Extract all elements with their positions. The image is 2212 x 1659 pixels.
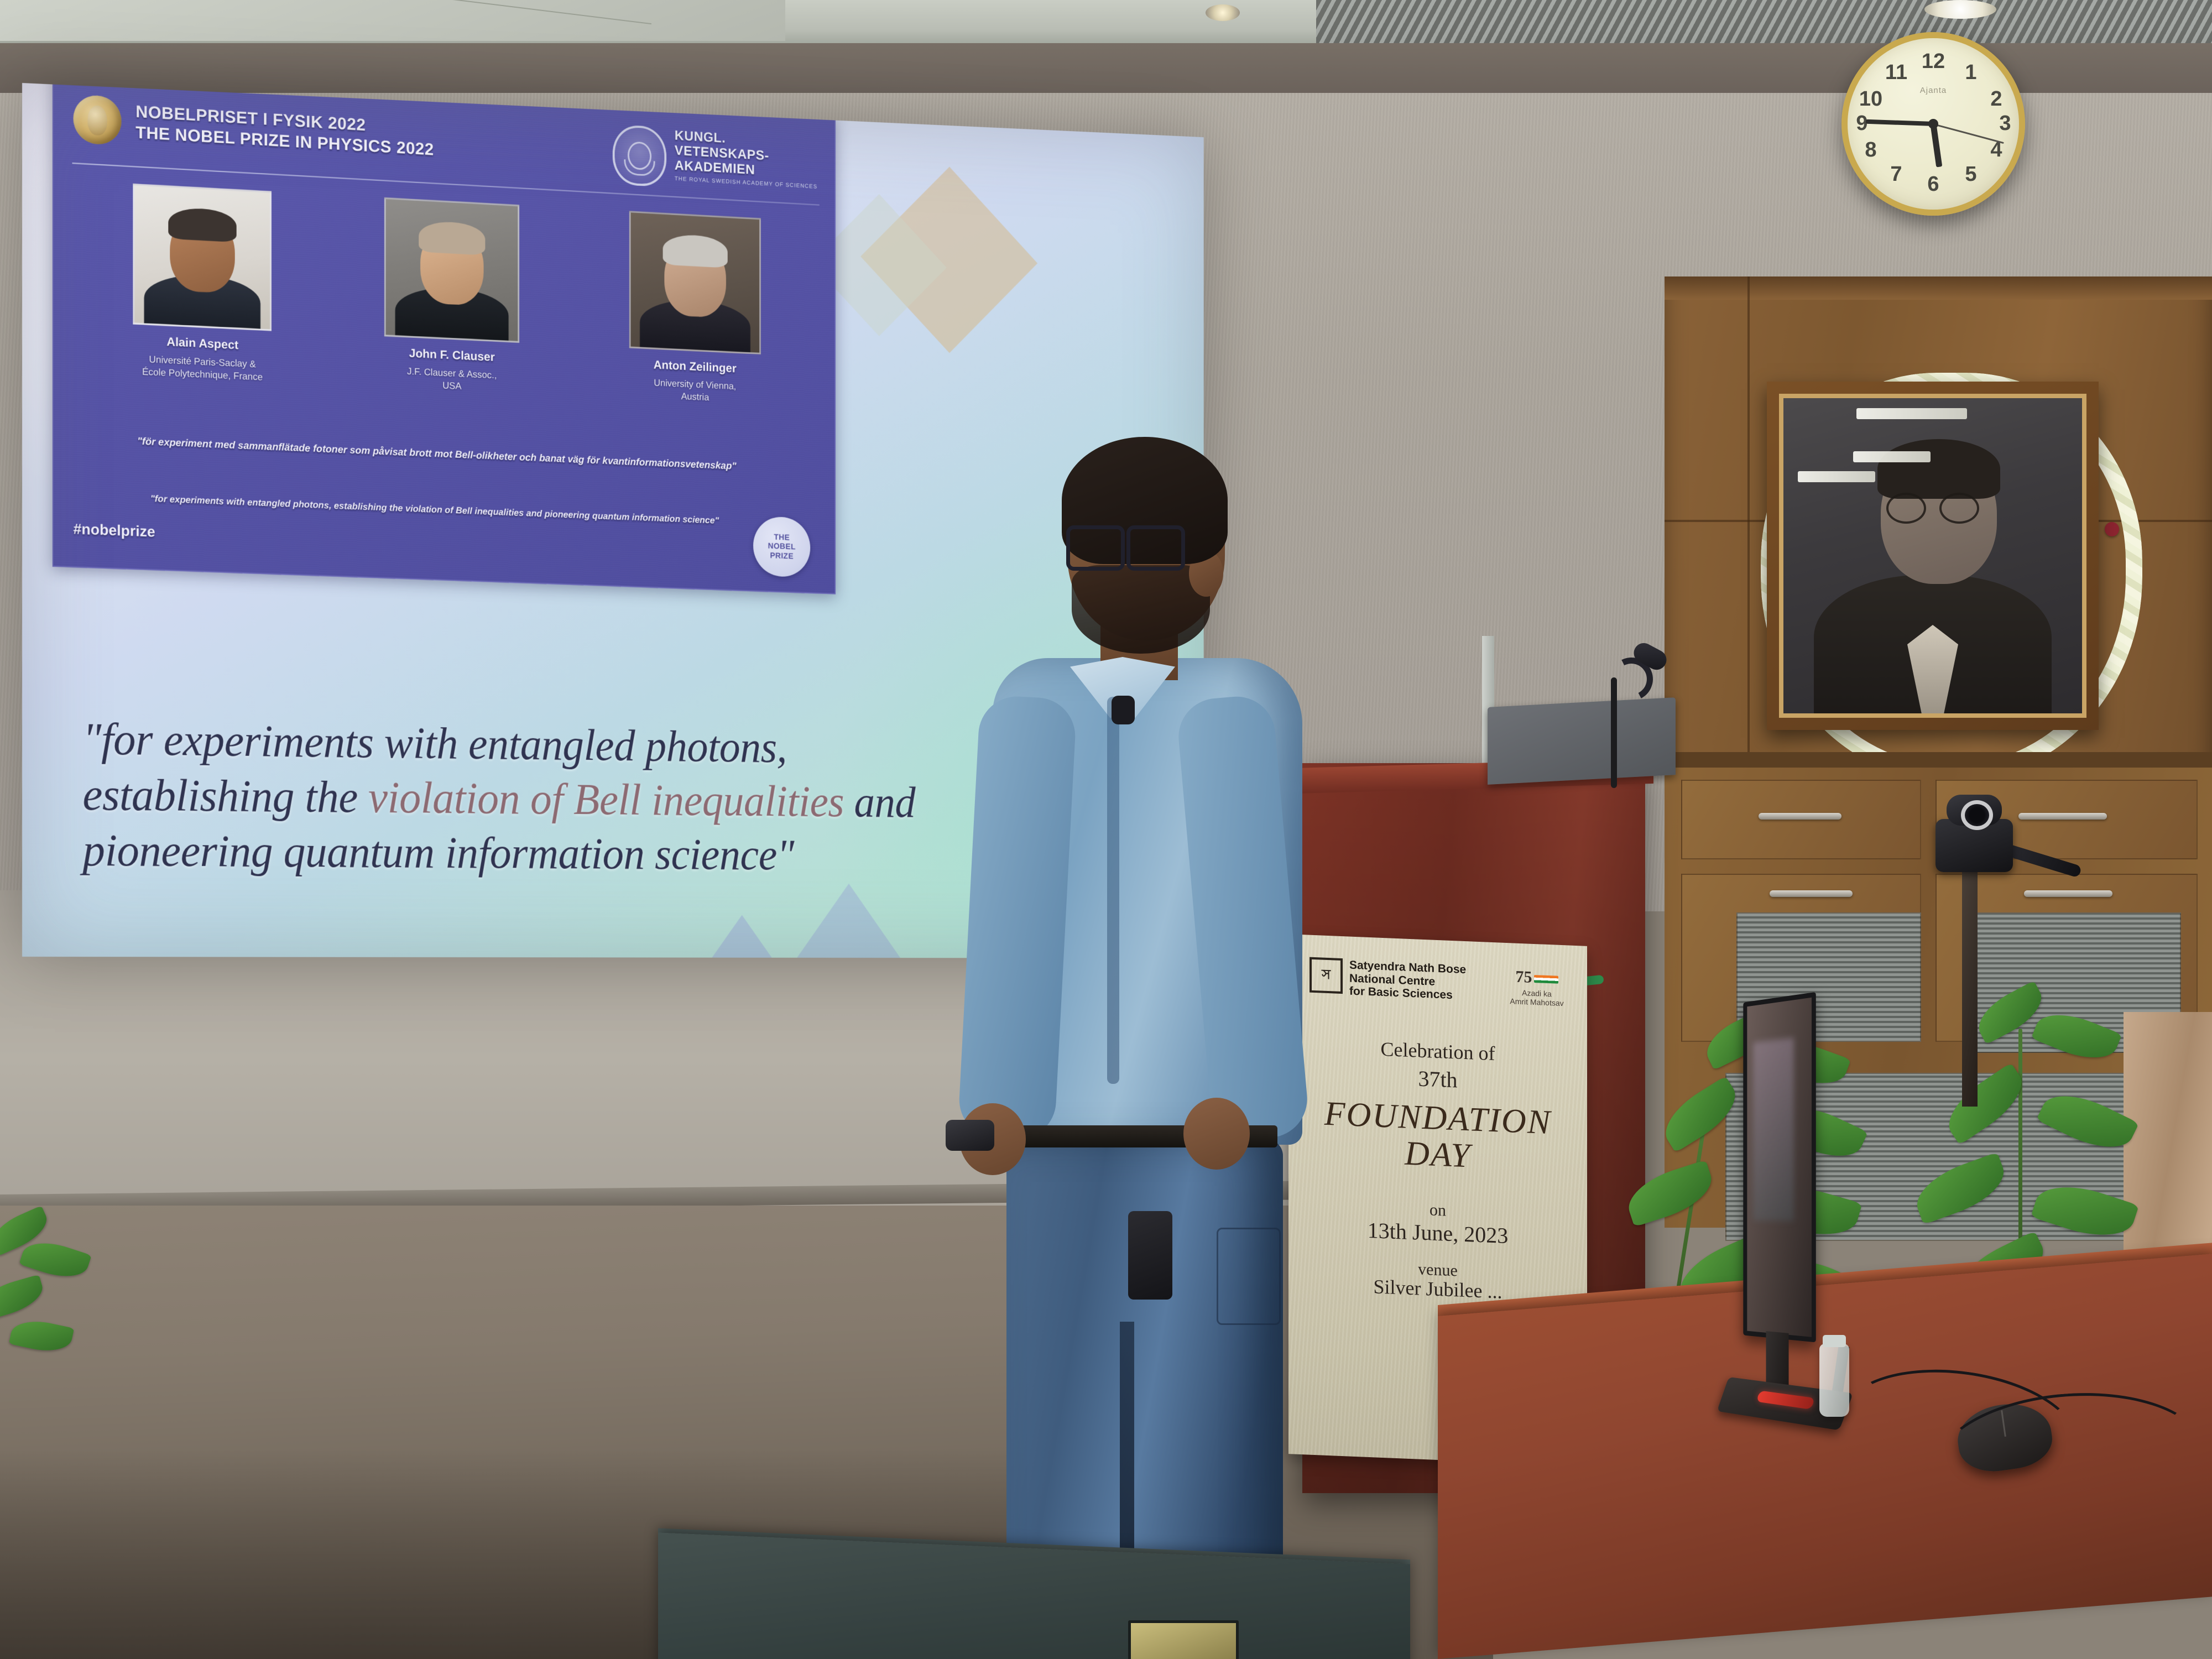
clock-number: 3 [1991,109,2020,138]
banner-event-title: FOUNDATION DAY [1288,1094,1587,1179]
institute-mark-icon: স [1310,957,1343,994]
cabinet-handle[interactable] [1759,813,1841,820]
azadi-logo: 75 Azadi ka Amrit Mahotsav [1501,967,1573,1008]
riser-label-plate [1128,1620,1239,1659]
water-bottle[interactable] [1819,1344,1849,1417]
cabinet-handle[interactable] [1770,890,1853,897]
clock-number: 10 [1856,85,1885,113]
trouser-pocket [1217,1228,1281,1325]
presenter-glasses-icon [1066,525,1185,566]
belt-pouch [1128,1211,1172,1300]
screen-glare [1753,1038,1793,1221]
auditorium-scene: NOBELPRISET I FYSIK 2022 THE NOBEL PRIZE… [0,0,2212,1659]
monitor[interactable] [1743,990,1830,1410]
camera-tripod [1919,771,2101,1159]
wood-wall-header [1665,276,2212,300]
plant-leaf [2031,1175,2139,1248]
bose-portrait-frame [1767,382,2099,730]
clock-hour-hand [1931,123,1943,167]
plant-leaf [1621,1160,1719,1227]
laptop[interactable] [1488,697,1676,785]
wall-clock: Ajanta 12 1 2 3 4 5 6 7 8 9 10 11 [1841,32,2025,216]
azadi-number: 75 [1516,968,1532,987]
ceiling-vent-grid [1316,0,2212,43]
institute-name: Satyendra Nath Bose National Centre for … [1349,959,1466,1003]
lapel-microphone [1112,696,1135,724]
ceiling [0,0,2212,50]
portrait-glasses-icon [1886,493,1979,519]
clock-number: 8 [1856,135,1885,164]
institute-logo: স Satyendra Nath Bose National Centre fo… [1310,957,1466,1003]
cabinet-drawer[interactable] [1681,780,1921,859]
glass-glare [1798,471,1875,482]
india-flag-icon [1534,975,1558,984]
cabinet-top-rail [1665,752,2212,768]
clock-number: 6 [1919,170,1948,199]
clock-center-pin [1928,119,1938,129]
bottle-cap [1823,1335,1846,1347]
plant-leaf [9,1316,74,1357]
potted-plant [0,1206,105,1371]
azadi-text: Azadi ka Amrit Mahotsav [1501,988,1573,1008]
plant-leaf [1909,1152,2012,1224]
presenter-hand-right [1183,1098,1250,1170]
clock-brand: Ajanta [1920,86,1947,95]
portrait-hair [1877,439,2000,499]
webcam-lens-icon [1961,800,1993,830]
gooseneck-microphone [1606,644,1621,782]
clock-number: 5 [1957,160,1985,189]
tripod-pole [1962,869,1978,1107]
glass-glare [1856,408,1967,419]
downlight [1924,0,1996,19]
monitor-panel [1743,992,1815,1343]
portrait-image [1779,394,2086,718]
clock-number: 11 [1882,58,1911,87]
clock-number: 7 [1882,160,1911,189]
shirt-placket [1107,697,1119,1084]
ceiling-panel [0,0,785,41]
presentation-clicker[interactable] [946,1120,994,1151]
clock-number: 1 [1957,58,1985,87]
downlight [1206,4,1240,21]
azadi-75: 75 [1501,967,1573,989]
presenter [929,437,1261,1576]
tripod-pan-arm[interactable] [2002,843,2082,878]
plant-leaf [0,1275,47,1322]
clock-number: 12 [1919,47,1948,76]
garland-bud [2105,522,2119,536]
glass-glare [1853,451,1931,462]
